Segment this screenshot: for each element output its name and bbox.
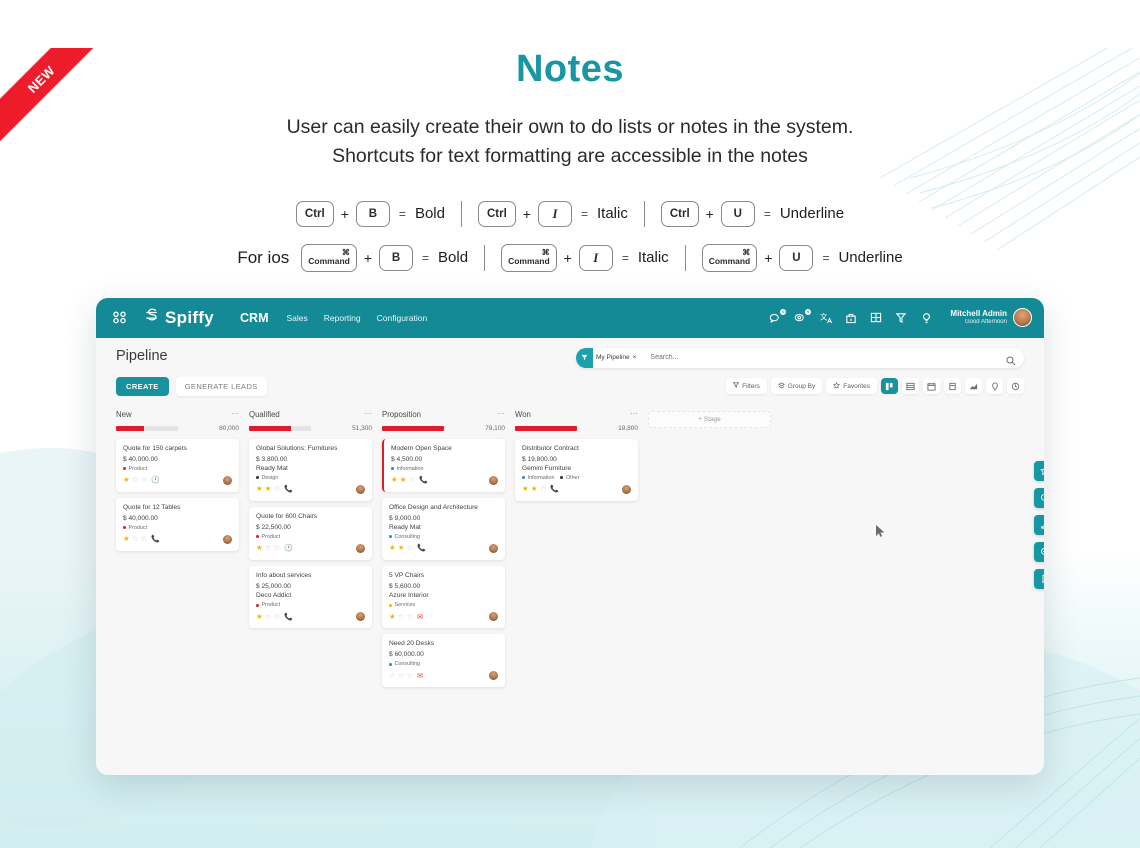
- avatar[interactable]: [223, 476, 232, 485]
- tag-label: Product: [129, 466, 148, 472]
- filters-label: Filters: [742, 383, 760, 390]
- card-amount: $ 19,800.00: [522, 456, 631, 463]
- avatar[interactable]: [356, 612, 365, 621]
- module-name: CRM: [240, 311, 268, 325]
- kanban-card[interactable]: Quote for 12 Tables $ 40,000.00 Product …: [116, 498, 239, 551]
- column-amount: 80,000: [219, 425, 239, 432]
- tag-label: Product: [129, 525, 148, 531]
- key-ctrl: Ctrl: [661, 201, 699, 227]
- star-icon[interactable]: ☆: [273, 544, 280, 552]
- column-header: Won ⋯: [515, 410, 638, 419]
- column-title: Qualified: [249, 410, 280, 419]
- star-icon[interactable]: ★: [123, 476, 130, 484]
- plus-sign: +: [341, 206, 349, 222]
- plus-sign: +: [764, 250, 772, 266]
- avatar[interactable]: [356, 485, 365, 494]
- shortcut-cmd-u: ⌘ Command + U = Underline: [702, 244, 903, 272]
- card-tag: Other: [560, 475, 579, 481]
- key-u: U: [721, 201, 755, 227]
- column-progress: 80,000: [116, 425, 239, 432]
- favorites-button[interactable]: Favorites: [826, 378, 877, 394]
- card-amount: $ 40,000.00: [123, 456, 232, 463]
- card-tags: Design: [256, 475, 365, 481]
- card-title: Distributor Contract: [522, 445, 631, 453]
- card-tag: Product: [256, 602, 280, 608]
- activity-phone-icon[interactable]: 📞: [550, 485, 559, 493]
- star-icon[interactable]: ★: [531, 485, 538, 493]
- card-footer: ★ ☆ ☆ 🕐: [256, 544, 365, 553]
- card-tags: Information Other: [522, 475, 631, 481]
- control-panel: Pipeline My Pipeline ×: [96, 338, 1044, 396]
- card-amount: $ 3,800.00: [256, 456, 365, 463]
- add-stage-button[interactable]: + Stage: [648, 411, 771, 428]
- card-tags: Product: [256, 602, 365, 608]
- side-rail: [1034, 461, 1044, 589]
- column-amount: 79,100: [485, 425, 505, 432]
- ios-label: For ios: [237, 248, 289, 268]
- key-i: I: [579, 245, 613, 271]
- star-icon[interactable]: ☆: [132, 476, 139, 484]
- search-icon[interactable]: [1034, 488, 1044, 508]
- brand[interactable]: Spiffy: [142, 306, 214, 330]
- star-icon[interactable]: ★: [265, 485, 272, 493]
- card-tags: Product: [123, 525, 232, 531]
- card-footer: ★ ★ ☆ 📞: [522, 485, 631, 494]
- key-ctrl: Ctrl: [478, 201, 516, 227]
- user-menu[interactable]: Mitchell Admin Good Afternoon: [950, 308, 1032, 327]
- star-icon[interactable]: ★: [256, 613, 263, 621]
- search-icon[interactable]: [1006, 353, 1016, 363]
- priority-stars[interactable]: ★ ★ ☆: [389, 544, 413, 552]
- column-menu-icon[interactable]: ⋯: [364, 412, 372, 416]
- key-ctrl: Ctrl: [296, 201, 334, 227]
- kanban-card[interactable]: Modern Open Space $ 4,500.00 Information…: [382, 439, 505, 492]
- card-tag: Design: [256, 475, 278, 481]
- card-amount: $ 22,500.00: [256, 524, 365, 531]
- equals-sign: =: [422, 251, 429, 265]
- card-footer: ★ ☆ ☆ 📞: [256, 612, 365, 621]
- new-ribbon: NEW: [0, 48, 112, 160]
- column-cards: Global Solutions: Furnitures $ 3,800.00 …: [249, 439, 372, 629]
- tag-label: Design: [262, 475, 279, 481]
- divider: [461, 201, 462, 227]
- column-amount: 19,800: [618, 425, 638, 432]
- star-icon[interactable]: ★: [522, 485, 529, 493]
- shortcut-ctrl-u: Ctrl + U = Underline: [661, 201, 844, 227]
- shortcut-result-underline: Underline: [838, 249, 902, 266]
- star-icon[interactable]: ☆: [406, 544, 413, 552]
- progress-bar: [382, 426, 444, 431]
- column-title: New: [116, 410, 132, 419]
- column-title: Proposition: [382, 410, 421, 419]
- bulb-icon[interactable]: [919, 311, 933, 325]
- equals-sign: =: [581, 207, 588, 221]
- avatar[interactable]: [489, 544, 498, 553]
- subtitle-line-1: User can easily create their own to do l…: [0, 113, 1140, 142]
- card-title: Quote for 12 Tables: [123, 504, 232, 512]
- avatar[interactable]: [489, 671, 498, 680]
- card-amount: $ 4,500.00: [391, 456, 498, 463]
- tag-label: Consulting: [395, 534, 420, 540]
- priority-stars[interactable]: ★ ☆ ☆: [256, 544, 280, 552]
- equals-sign: =: [622, 251, 629, 265]
- priority-stars[interactable]: ★ ★ ☆: [256, 485, 280, 493]
- column-title: Won: [515, 410, 531, 419]
- column-header: Proposition ⋯: [382, 410, 505, 419]
- column-cards: Modern Open Space $ 4,500.00 Information…: [382, 439, 505, 688]
- facet-remove-icon[interactable]: ×: [633, 354, 637, 361]
- command-label: Command: [508, 257, 550, 266]
- page-title: Notes: [0, 48, 1140, 91]
- page-subtitle: User can easily create their own to do l…: [0, 113, 1140, 172]
- plus-sign: +: [523, 206, 531, 222]
- favorites-label: Favorites: [843, 383, 870, 390]
- priority-stars[interactable]: ★ ☆ ☆: [256, 613, 280, 621]
- tag-label: Consulting: [395, 661, 420, 667]
- card-tag: Product: [123, 466, 147, 472]
- card-amount: $ 60,000.00: [389, 651, 498, 658]
- avatar[interactable]: [489, 612, 498, 621]
- card-title: Office Design and Architecture: [389, 504, 498, 512]
- card-partner: Deco Addict: [256, 592, 365, 599]
- card-partner: Gemini Furniture: [522, 465, 631, 472]
- key-u: U: [779, 245, 813, 271]
- plus-sign: +: [564, 250, 572, 266]
- star-icon[interactable]: [1034, 461, 1044, 481]
- activity-phone-icon[interactable]: 📞: [151, 535, 160, 543]
- card-tags: Product: [256, 534, 365, 540]
- translate-icon[interactable]: 文: [819, 311, 833, 325]
- card-partner: Ready Mat: [256, 465, 365, 472]
- star-icon[interactable]: ★: [389, 613, 396, 621]
- star-icon[interactable]: ★: [389, 544, 396, 552]
- search-area: My Pipeline ×: [576, 348, 1024, 368]
- pivot-view-icon[interactable]: [944, 378, 961, 394]
- svg-text:文: 文: [820, 312, 828, 321]
- tag-label: Other: [566, 475, 579, 481]
- card-title: Info about services: [256, 572, 365, 580]
- plus-sign: +: [706, 206, 714, 222]
- equals-sign: =: [822, 251, 829, 265]
- list-view-icon[interactable]: [902, 378, 919, 394]
- progress-bar: [116, 426, 178, 431]
- kanban-column-new: New ⋯ 80,000 Quote for 150 carpets $ 40,…: [116, 410, 239, 551]
- key-b: B: [356, 201, 390, 227]
- shortcut-result-bold: Bold: [415, 205, 445, 222]
- bookmark-icon[interactable]: [1034, 569, 1044, 589]
- avatar[interactable]: [489, 476, 498, 485]
- star-icon[interactable]: ☆: [398, 613, 405, 621]
- tag-label: Product: [262, 602, 281, 608]
- messages-badge: 0: [780, 309, 786, 315]
- kanban-card[interactable]: Quote for 600 Chairs $ 22,500.00 Product…: [249, 507, 372, 560]
- card-tag: Consulting: [389, 661, 420, 667]
- brand-logo-icon: [142, 306, 161, 330]
- key-command: ⌘ Command: [501, 244, 557, 272]
- progress-bar: [249, 426, 311, 431]
- star-icon[interactable]: ☆: [140, 535, 147, 543]
- tag-label: Information: [528, 475, 555, 481]
- activity-mail-icon[interactable]: ✉: [417, 613, 423, 621]
- card-tags: Information: [391, 466, 498, 472]
- column-menu-icon[interactable]: ⋯: [497, 412, 505, 416]
- avatar[interactable]: [622, 485, 631, 494]
- key-b: B: [379, 245, 413, 271]
- command-label: Command: [709, 257, 751, 266]
- priority-stars[interactable]: ★ ★ ☆: [391, 476, 415, 484]
- shortcut-ctrl-i: Ctrl + I = Italic: [478, 201, 628, 227]
- avatar[interactable]: [1013, 308, 1032, 327]
- column-progress: 19,800: [515, 425, 638, 432]
- card-amount: $ 5,600.00: [389, 583, 498, 590]
- nav-item-reporting[interactable]: Reporting: [324, 313, 361, 323]
- kanban-view-icon[interactable]: [881, 378, 898, 394]
- shortcut-result-italic: Italic: [597, 205, 628, 222]
- calendar-view-icon[interactable]: [923, 378, 940, 394]
- tag-label: Product: [262, 534, 281, 540]
- star-icon[interactable]: ☆: [389, 672, 396, 680]
- divider: [484, 245, 485, 271]
- card-amount: $ 40,000.00: [123, 515, 232, 522]
- card-tag: Product: [256, 534, 280, 540]
- card-title: Quote for 150 carpets: [123, 445, 232, 453]
- priority-stars[interactable]: ★ ☆ ☆: [389, 613, 413, 621]
- filters-button[interactable]: Filters: [726, 378, 767, 394]
- shortcuts-section: Ctrl + B = Bold Ctrl + I = Italic Ctrl +…: [0, 192, 1140, 280]
- avatar[interactable]: [223, 535, 232, 544]
- card-tags: Consulting: [389, 661, 498, 667]
- map-view-icon[interactable]: [986, 378, 1003, 394]
- card-footer: ★ ☆ ☆ ✉: [389, 612, 498, 621]
- card-amount: $ 9,000.00: [389, 515, 498, 522]
- shortcut-cmd-i: ⌘ Command + I = Italic: [501, 244, 669, 272]
- facet-my-pipeline[interactable]: My Pipeline ×: [576, 348, 642, 368]
- create-button[interactable]: CREATE: [116, 377, 169, 396]
- group-by-label: Group By: [788, 383, 815, 390]
- subtitle-line-2: Shortcuts for text formatting are access…: [0, 142, 1140, 171]
- app-window: Spiffy CRM Sales Reporting Configuration…: [96, 298, 1044, 775]
- kanban-column-proposition: Proposition ⋯ 79,100 Modern Open Space $…: [382, 410, 505, 688]
- chat-badge: 0: [805, 309, 811, 315]
- shortcut-result-italic: Italic: [638, 249, 669, 266]
- divider: [644, 201, 645, 227]
- card-tag: Information: [522, 475, 554, 481]
- star-icon[interactable]: ☆: [273, 613, 280, 621]
- priority-stars[interactable]: ★ ★ ☆: [522, 485, 546, 493]
- kanban-card[interactable]: Distributor Contract $ 19,800.00 Gemini …: [515, 439, 638, 501]
- filter-icon: [733, 382, 739, 390]
- shortcut-result-underline: Underline: [780, 205, 844, 222]
- search-input[interactable]: [642, 354, 1006, 361]
- star-icon[interactable]: ☆: [408, 476, 415, 484]
- activity-view-icon[interactable]: [1007, 378, 1024, 394]
- card-footer: ★ ★ ☆ 📞: [391, 476, 498, 485]
- column-menu-icon[interactable]: ⋯: [231, 412, 239, 416]
- grid-icon[interactable]: [869, 311, 883, 325]
- card-footer: ☆ ☆ ☆ ✉: [389, 671, 498, 680]
- column-progress: 51,300: [249, 425, 372, 432]
- ribbon-label: NEW: [24, 62, 57, 95]
- command-label: Command: [308, 257, 350, 266]
- star-icon[interactable]: ★: [398, 544, 405, 552]
- card-tags: Services: [389, 602, 498, 608]
- star-icon[interactable]: ★: [123, 535, 130, 543]
- kanban-card[interactable]: Quote for 150 carpets $ 40,000.00 Produc…: [116, 439, 239, 492]
- user-text: Mitchell Admin Good Afternoon: [950, 309, 1007, 325]
- kanban-card[interactable]: Global Solutions: Furnitures $ 3,800.00 …: [249, 439, 372, 501]
- column-header: Qualified ⋯: [249, 410, 372, 419]
- column-menu-icon[interactable]: ⋯: [630, 412, 638, 416]
- star-icon[interactable]: ☆: [132, 535, 139, 543]
- key-command: ⌘ Command: [301, 244, 357, 272]
- card-partner: Ready Mat: [389, 524, 498, 531]
- star-icon[interactable]: ☆: [265, 613, 272, 621]
- messages-icon[interactable]: 0: [769, 311, 783, 325]
- facet-label: My Pipeline: [596, 354, 630, 361]
- layers-icon: [778, 382, 785, 391]
- group-by-button[interactable]: Group By: [771, 378, 822, 394]
- card-partner: Azure Interior: [389, 592, 498, 599]
- card-tag: Product: [123, 525, 147, 531]
- shortcuts-row-windows: Ctrl + B = Bold Ctrl + I = Italic Ctrl +…: [0, 192, 1140, 236]
- kanban-card[interactable]: Office Design and Architecture $ 9,000.0…: [382, 498, 505, 560]
- kanban-column-won: Won ⋯ 19,800 Distributor Contract $ 19,8…: [515, 410, 638, 501]
- card-footer: ★ ☆ ☆ 📞: [123, 535, 232, 544]
- user-name: Mitchell Admin: [950, 309, 1007, 318]
- tag-label: Information: [397, 466, 424, 472]
- card-tags: Consulting: [389, 534, 498, 540]
- activity-phone-icon[interactable]: 📞: [284, 613, 293, 621]
- app-navbar: Spiffy CRM Sales Reporting Configuration…: [96, 298, 1044, 338]
- star-icon[interactable]: ★: [256, 544, 263, 552]
- megaphone-icon[interactable]: [894, 311, 908, 325]
- kanban-column-qualified: Qualified ⋯ 51,300 Global Solutions: Fur…: [249, 410, 372, 629]
- nav-item-configuration[interactable]: Configuration: [377, 313, 428, 323]
- column-progress: 79,100: [382, 425, 505, 432]
- key-i: I: [538, 201, 572, 227]
- star-icon[interactable]: ☆: [398, 672, 405, 680]
- filter-icon: [576, 348, 593, 368]
- activity-phone-icon[interactable]: 📞: [419, 476, 428, 484]
- shop-icon[interactable]: [844, 311, 858, 325]
- priority-stars[interactable]: ★ ☆ ☆: [123, 535, 147, 543]
- star-icon[interactable]: ☆: [265, 544, 272, 552]
- nav-menu: Sales Reporting Configuration: [287, 313, 428, 323]
- card-tag: Consulting: [389, 534, 420, 540]
- star-icon[interactable]: ★: [256, 485, 263, 493]
- zoom-icon[interactable]: [1034, 542, 1044, 562]
- graph-view-icon[interactable]: [965, 378, 982, 394]
- card-tag: Services: [389, 602, 415, 608]
- star-icon: [833, 382, 840, 391]
- shortcuts-row-mac: For ios ⌘ Command + B = Bold ⌘ Command +…: [0, 236, 1140, 280]
- card-tag: Information: [391, 466, 423, 472]
- avatar[interactable]: [356, 544, 365, 553]
- mouse-cursor: [876, 525, 886, 544]
- star-icon[interactable]: ★: [391, 476, 398, 484]
- shortcut-result-bold: Bold: [438, 249, 468, 266]
- expand-icon[interactable]: [1034, 515, 1044, 535]
- control-panel-top: Pipeline My Pipeline ×: [116, 348, 1024, 368]
- shortcut-cmd-b: ⌘ Command + B = Bold: [301, 244, 468, 272]
- kanban-card[interactable]: 5 VP Chairs $ 5,600.00 Azure Interior Se…: [382, 566, 505, 628]
- activity-phone-icon[interactable]: 📞: [284, 485, 293, 493]
- card-amount: $ 25,000.00: [256, 583, 365, 590]
- equals-sign: =: [764, 207, 771, 221]
- column-amount: 51,300: [352, 425, 372, 432]
- tag-label: Services: [395, 602, 416, 608]
- activity-clock-icon[interactable]: 🕐: [151, 476, 160, 484]
- divider: [685, 245, 686, 271]
- apps-grid-icon[interactable]: [108, 310, 130, 326]
- search-bar[interactable]: My Pipeline ×: [576, 348, 1024, 368]
- card-title: Modern Open Space: [391, 445, 498, 453]
- breadcrumb-pipeline: Pipeline: [116, 348, 168, 364]
- star-icon[interactable]: ☆: [406, 613, 413, 621]
- chat-icon[interactable]: 0: [794, 311, 808, 325]
- column-header: New ⋯: [116, 410, 239, 419]
- priority-stars[interactable]: ★ ☆ ☆: [123, 476, 147, 484]
- card-title: Quote for 600 Chairs: [256, 513, 365, 521]
- card-title: Global Solutions: Furnitures: [256, 445, 365, 453]
- shortcut-ctrl-b: Ctrl + B = Bold: [296, 201, 445, 227]
- star-icon[interactable]: ★: [400, 476, 407, 484]
- priority-stars[interactable]: ☆ ☆ ☆: [389, 672, 413, 680]
- star-icon[interactable]: ☆: [539, 485, 546, 493]
- kanban-card[interactable]: Need 20 Desks $ 60,000.00 Consulting ☆ ☆…: [382, 634, 505, 687]
- column-cards: Quote for 150 carpets $ 40,000.00 Produc…: [116, 439, 239, 551]
- kanban-board: New ⋯ 80,000 Quote for 150 carpets $ 40,…: [96, 396, 1044, 688]
- card-footer: ★ ★ ☆ 📞: [256, 485, 365, 494]
- card-title: 5 VP Chairs: [389, 572, 498, 580]
- progress-bar: [515, 426, 577, 431]
- star-icon[interactable]: ☆: [406, 672, 413, 680]
- generate-leads-button[interactable]: GENERATE LEADS: [176, 377, 267, 396]
- star-icon[interactable]: ☆: [140, 476, 147, 484]
- card-title: Need 20 Desks: [389, 640, 498, 648]
- control-panel-bottom: CREATE GENERATE LEADS Filters: [116, 377, 1024, 396]
- activity-clock-icon[interactable]: 🕐: [284, 544, 293, 552]
- navbar-right: 0 0 文: [769, 308, 1032, 327]
- user-greeting: Good Afternoon: [950, 319, 1007, 326]
- card-footer: ★ ★ ☆ 📞: [389, 544, 498, 553]
- card-tags: Product: [123, 466, 232, 472]
- activity-mail-icon[interactable]: ✉: [417, 672, 423, 680]
- plus-sign: +: [364, 250, 372, 266]
- nav-item-sales[interactable]: Sales: [287, 313, 308, 323]
- card-footer: ★ ☆ ☆ 🕐: [123, 476, 232, 485]
- key-command: ⌘ Command: [702, 244, 758, 272]
- activity-phone-icon[interactable]: 📞: [417, 544, 426, 552]
- brand-name: Spiffy: [165, 308, 214, 328]
- star-icon[interactable]: ☆: [273, 485, 280, 493]
- view-tools: Filters Group By Favorites: [726, 378, 1024, 394]
- kanban-card[interactable]: Info about services $ 25,000.00 Deco Add…: [249, 566, 372, 628]
- column-cards: Distributor Contract $ 19,800.00 Gemini …: [515, 439, 638, 501]
- equals-sign: =: [399, 207, 406, 221]
